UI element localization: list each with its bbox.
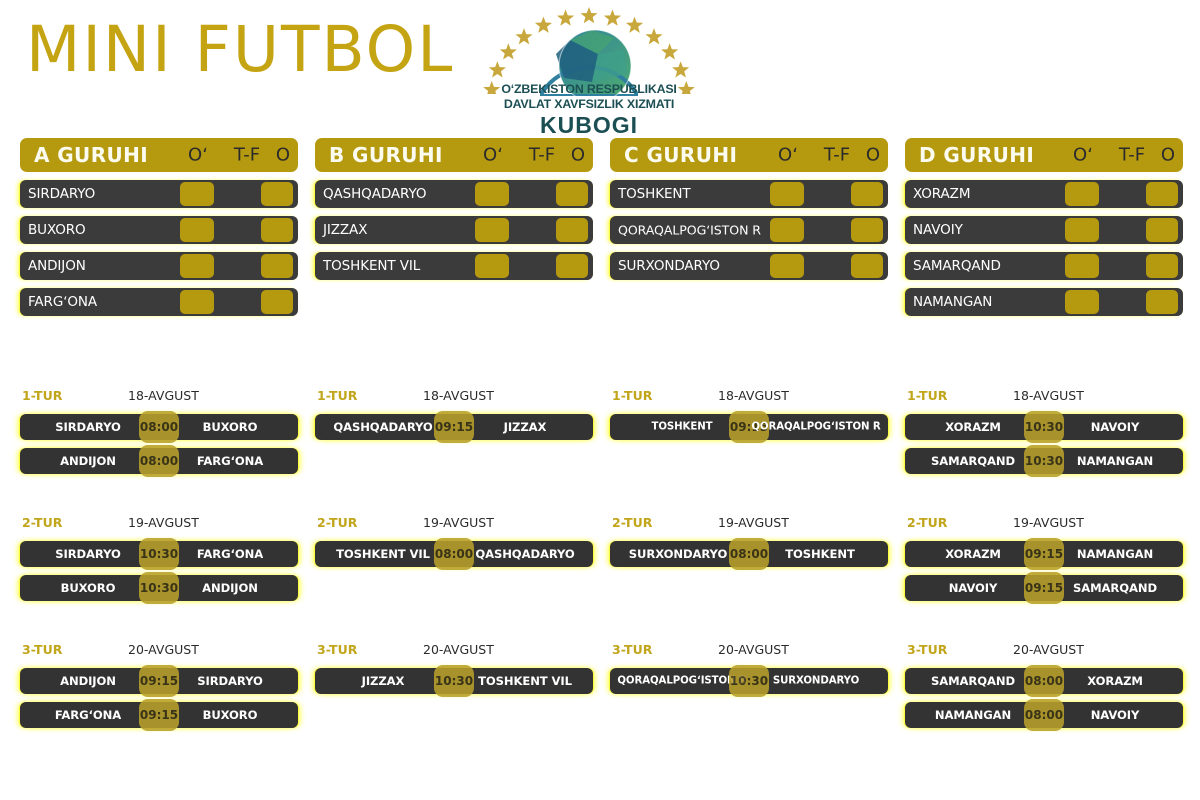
standings-team-row[interactable]: SURXONDARYO (610, 252, 888, 280)
match-away-team: NAVOIY (1051, 708, 1179, 722)
round-block: 3-TUR20-AVGUSTQORAQALPOGʻISTON R10:30SUR… (610, 642, 888, 694)
team-name: QORAQALPOGʻISTON R (618, 223, 761, 238)
match-away-team: BUXORO (166, 420, 294, 434)
match-away-team: NAMANGAN (1051, 454, 1179, 468)
match-row[interactable]: ANDIJON08:00FARGʻONA (20, 448, 298, 474)
round-date: 20-AVGUST (718, 642, 789, 657)
standings-team-row[interactable]: FARGʻONA (20, 288, 298, 316)
match-home-team: XORAZM (909, 547, 1037, 561)
match-row[interactable]: NAVOIY09:15SAMARQAND (905, 575, 1183, 601)
group-header: B GURUHIOʻT-FO (315, 138, 593, 172)
stat-cell-played (1065, 218, 1099, 242)
round-date: 20-AVGUST (1013, 642, 1084, 657)
round-label: 1-TUR (22, 388, 62, 403)
round-header: 3-TUR20-AVGUST (20, 642, 298, 660)
column-header-goals: T-F (818, 145, 856, 166)
round-label: 1-TUR (317, 388, 357, 403)
stat-cell-points (261, 182, 293, 206)
team-name: TOSHKENT VIL (323, 258, 420, 274)
match-away-team: QORAQALPOGʻISTON R (748, 422, 884, 433)
match-row[interactable]: SIRDARYO10:30FARGʻONA (20, 541, 298, 567)
round-date: 19-AVGUST (718, 515, 789, 530)
round-block: 3-TUR20-AVGUSTSAMARQAND08:00XORAZMNAMANG… (905, 642, 1183, 728)
team-name: NAMANGAN (913, 294, 992, 310)
round-header: 1-TUR18-AVGUST (20, 388, 298, 406)
column-header-goals: T-F (228, 145, 266, 166)
team-name: FARGʻONA (28, 294, 97, 310)
stat-cell-played (180, 218, 214, 242)
stat-cell-points (1146, 182, 1178, 206)
match-away-team: SAMARQAND (1051, 581, 1179, 595)
stat-cell-played (180, 290, 214, 314)
team-name: TOSHKENT (618, 186, 691, 202)
round-label: 2-TUR (612, 515, 652, 530)
match-home-team: XORAZM (909, 420, 1037, 434)
standings-team-row[interactable]: SIRDARYO (20, 180, 298, 208)
stat-cell-played (1065, 254, 1099, 278)
round-date: 18-AVGUST (423, 388, 494, 403)
match-row[interactable]: SURXONDARYO08:00TOSHKENT (610, 541, 888, 567)
standings-team-row[interactable]: ANDIJON (20, 252, 298, 280)
match-row[interactable]: ANDIJON09:15SIRDARYO (20, 668, 298, 694)
round-block: 2-TUR19-AVGUSTSURXONDARYO08:00TOSHKENT (610, 515, 888, 567)
round-label: 2-TUR (22, 515, 62, 530)
stat-cell-played (475, 182, 509, 206)
match-away-team: QASHQADARYO (461, 547, 589, 561)
column-header-points: O (1159, 145, 1177, 166)
column-header-played: Oʻ (1066, 145, 1100, 166)
round-block: 1-TUR18-AVGUSTQASHQADARYO09:15JIZZAX (315, 388, 593, 440)
team-name: NAVOIY (913, 222, 963, 238)
round-label: 3-TUR (907, 642, 947, 657)
round-date: 20-AVGUST (423, 642, 494, 657)
stat-cell-played (770, 182, 804, 206)
standings-team-row[interactable]: TOSHKENT (610, 180, 888, 208)
team-name: SAMARQAND (913, 258, 1001, 274)
team-name: SIRDARYO (28, 186, 95, 202)
stat-cell-points (261, 218, 293, 242)
match-away-team: FARGʻONA (166, 547, 294, 561)
stat-cell-points (1146, 290, 1178, 314)
stat-cell-played (475, 254, 509, 278)
tournament-logo: OʻZBEKISTON RESPUBLIKASI DAVLAT XAVFSIZL… (478, 4, 700, 136)
match-away-team: SIRDARYO (166, 674, 294, 688)
match-away-team: TOSHKENT (756, 547, 884, 561)
round-date: 19-AVGUST (1013, 515, 1084, 530)
match-home-team: NAMANGAN (909, 708, 1037, 722)
column-header-goals: T-F (1113, 145, 1151, 166)
standings-team-row[interactable]: XORAZM (905, 180, 1183, 208)
match-away-team: ANDIJON (166, 581, 294, 595)
round-label: 1-TUR (612, 388, 652, 403)
match-away-team: NAMANGAN (1051, 547, 1179, 561)
logo-line-1: OʻZBEKISTON RESPUBLIKASI (478, 82, 700, 97)
match-away-team: XORAZM (1051, 674, 1179, 688)
round-header: 2-TUR19-AVGUST (315, 515, 593, 533)
logo-line-3: KUBOGI (478, 113, 700, 137)
group-header: D GURUHIOʻT-FO (905, 138, 1183, 172)
stat-cell-points (1146, 218, 1178, 242)
standings-team-row[interactable]: NAVOIY (905, 216, 1183, 244)
group-header: C GURUHIOʻT-FO (610, 138, 888, 172)
match-row[interactable]: QORAQALPOGʻISTON R10:30SURXONDARYO (610, 668, 888, 694)
group-name: C GURUHI (624, 143, 737, 167)
page-title: MINI FUTBOL (26, 18, 454, 81)
stat-cell-played (770, 218, 804, 242)
match-row[interactable]: JIZZAX10:30TOSHKENT VIL (315, 668, 593, 694)
column-header-points: O (569, 145, 587, 166)
team-name: BUXORO (28, 222, 86, 238)
group-column-a: A GURUHIOʻT-FOSIRDARYOBUXOROANDIJONFARGʻ… (20, 138, 298, 316)
match-row[interactable]: NAMANGAN08:00NAVOIY (905, 702, 1183, 728)
team-name: JIZZAX (323, 222, 367, 238)
team-name: QASHQADARYO (323, 186, 426, 202)
match-home-team: SAMARQAND (909, 454, 1037, 468)
match-row[interactable]: XORAZM10:30NAVOIY (905, 414, 1183, 440)
stat-cell-played (180, 182, 214, 206)
match-home-team: QASHQADARYO (319, 420, 447, 434)
match-home-team: ANDIJON (24, 454, 152, 468)
stat-cell-points (1146, 254, 1178, 278)
stat-cell-played (1065, 182, 1099, 206)
match-away-team: TOSHKENT VIL (461, 674, 589, 688)
stat-cell-points (851, 254, 883, 278)
stat-cell-points (556, 182, 588, 206)
round-header: 2-TUR19-AVGUST (905, 515, 1183, 533)
team-name: XORAZM (913, 186, 970, 202)
round-header: 3-TUR20-AVGUST (610, 642, 888, 660)
group-name: D GURUHI (919, 143, 1034, 167)
match-home-team: BUXORO (24, 581, 152, 595)
round-block: 2-TUR19-AVGUSTTOSHKENT VIL08:00QASHQADAR… (315, 515, 593, 567)
tournament-schedule-page: MINI FUTBOL OʻZBEKISTON RES (0, 0, 1200, 800)
standings-team-row[interactable]: QORAQALPOGʻISTON R (610, 216, 888, 244)
group-column-c: C GURUHIOʻT-FOTOSHKENTQORAQALPOGʻISTON R… (610, 138, 888, 280)
column-header-points: O (274, 145, 292, 166)
team-name: ANDIJON (28, 258, 86, 274)
match-row[interactable]: BUXORO10:30ANDIJON (20, 575, 298, 601)
round-block: 1-TUR18-AVGUSTTOSHKENT09:15QORAQALPOGʻIS… (610, 388, 888, 440)
match-home-team: FARGʻONA (24, 708, 152, 722)
logo-line-2: DAVLAT XAVFSIZLIK XIZMATI (478, 97, 700, 112)
match-row[interactable]: SAMARQAND08:00XORAZM (905, 668, 1183, 694)
round-header: 3-TUR20-AVGUST (315, 642, 593, 660)
match-row[interactable]: TOSHKENT09:15QORAQALPOGʻISTON R (610, 414, 888, 440)
round-date: 18-AVGUST (128, 388, 199, 403)
match-home-team: NAVOIY (909, 581, 1037, 595)
column-header-played: Oʻ (771, 145, 805, 166)
match-away-team: SURXONDARYO (748, 676, 884, 687)
round-date: 19-AVGUST (128, 515, 199, 530)
stat-cell-played (475, 218, 509, 242)
column-header-played: Oʻ (476, 145, 510, 166)
team-name: SURXONDARYO (618, 258, 720, 274)
match-home-team: SIRDARYO (24, 547, 152, 561)
round-header: 1-TUR18-AVGUST (315, 388, 593, 406)
stat-cell-points (261, 254, 293, 278)
column-header-played: Oʻ (181, 145, 215, 166)
match-home-team: TOSHKENT VIL (319, 547, 447, 561)
round-date: 18-AVGUST (1013, 388, 1084, 403)
round-block: 1-TUR18-AVGUSTSIRDARYO08:00BUXOROANDIJON… (20, 388, 298, 474)
column-header-points: O (864, 145, 882, 166)
round-block: 2-TUR19-AVGUSTXORAZM09:15NAMANGANNAVOIY0… (905, 515, 1183, 601)
standings-team-row[interactable]: NAMANGAN (905, 288, 1183, 316)
round-header: 1-TUR18-AVGUST (905, 388, 1183, 406)
round-label: 3-TUR (612, 642, 652, 657)
stat-cell-points (556, 254, 588, 278)
group-column-d: D GURUHIOʻT-FOXORAZMNAVOIYSAMARQANDNAMAN… (905, 138, 1183, 316)
round-date: 18-AVGUST (718, 388, 789, 403)
standings-team-row[interactable]: BUXORO (20, 216, 298, 244)
stat-cell-played (770, 254, 804, 278)
match-home-team: JIZZAX (319, 674, 447, 688)
match-row[interactable]: TOSHKENT VIL08:00QASHQADARYO (315, 541, 593, 567)
stat-cell-points (261, 290, 293, 314)
round-block: 3-TUR20-AVGUSTANDIJON09:15SIRDARYOFARGʻO… (20, 642, 298, 728)
round-date: 20-AVGUST (128, 642, 199, 657)
round-header: 3-TUR20-AVGUST (905, 642, 1183, 660)
match-home-team: SIRDARYO (24, 420, 152, 434)
round-label: 3-TUR (317, 642, 357, 657)
logo-text-block: OʻZBEKISTON RESPUBLIKASI DAVLAT XAVFSIZL… (478, 82, 700, 137)
stat-cell-played (1065, 290, 1099, 314)
match-row[interactable]: FARGʻONA09:15BUXORO (20, 702, 298, 728)
round-block: 3-TUR20-AVGUSTJIZZAX10:30TOSHKENT VIL (315, 642, 593, 694)
match-away-team: NAVOIY (1051, 420, 1179, 434)
stat-cell-points (556, 218, 588, 242)
round-header: 2-TUR19-AVGUST (20, 515, 298, 533)
group-name: B GURUHI (329, 143, 443, 167)
match-home-team: SAMARQAND (909, 674, 1037, 688)
match-home-team: ANDIJON (24, 674, 152, 688)
round-header: 1-TUR18-AVGUST (610, 388, 888, 406)
round-label: 2-TUR (907, 515, 947, 530)
match-row[interactable]: SAMARQAND10:30NAMANGAN (905, 448, 1183, 474)
stat-cell-points (851, 182, 883, 206)
round-label: 2-TUR (317, 515, 357, 530)
column-header-goals: T-F (523, 145, 561, 166)
round-label: 1-TUR (907, 388, 947, 403)
stat-cell-points (851, 218, 883, 242)
match-row[interactable]: QASHQADARYO09:15JIZZAX (315, 414, 593, 440)
match-away-team: FARGʻONA (166, 454, 294, 468)
match-row[interactable]: XORAZM09:15NAMANGAN (905, 541, 1183, 567)
standings-team-row[interactable]: TOSHKENT VIL (315, 252, 593, 280)
match-away-team: JIZZAX (461, 420, 589, 434)
standings-team-row[interactable]: SAMARQAND (905, 252, 1183, 280)
round-block: 1-TUR18-AVGUSTXORAZM10:30NAVOIYSAMARQAND… (905, 388, 1183, 474)
group-name: A GURUHI (34, 143, 148, 167)
round-label: 3-TUR (22, 642, 62, 657)
group-header: A GURUHIOʻT-FO (20, 138, 298, 172)
round-date: 19-AVGUST (423, 515, 494, 530)
stat-cell-played (180, 254, 214, 278)
group-column-b: B GURUHIOʻT-FOQASHQADARYOJIZZAXTOSHKENT … (315, 138, 593, 280)
round-block: 2-TUR19-AVGUSTSIRDARYO10:30FARGʻONABUXOR… (20, 515, 298, 601)
standings-team-row[interactable]: JIZZAX (315, 216, 593, 244)
match-row[interactable]: SIRDARYO08:00BUXORO (20, 414, 298, 440)
match-home-team: SURXONDARYO (614, 547, 742, 561)
match-away-team: BUXORO (166, 708, 294, 722)
standings-team-row[interactable]: QASHQADARYO (315, 180, 593, 208)
round-header: 2-TUR19-AVGUST (610, 515, 888, 533)
